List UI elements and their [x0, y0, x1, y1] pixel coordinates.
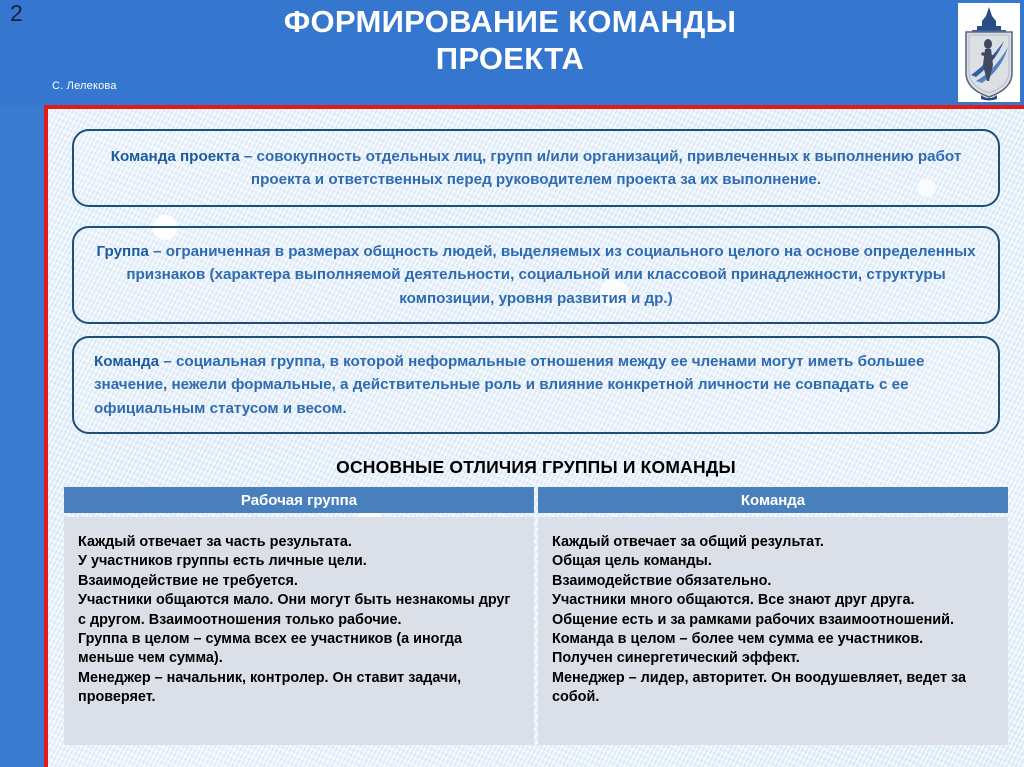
column-header-rabochaya-gruppa: Рабочая группа [64, 487, 534, 513]
presentation-slide: 2 С. Лелекова ФОРМИРОВАНИЕ КОМАНДЫ ПРОЕК… [0, 0, 1024, 767]
title-line-1: ФОРМИРОВАНИЕ КОМАНДЫ [284, 4, 737, 39]
content-frame: Команда проекта – совокупность отдельных… [44, 105, 1024, 767]
slide-number: 2 [10, 2, 23, 25]
title-line-2: ПРОЕКТА [436, 41, 585, 76]
content-area: Команда проекта – совокупность отдельных… [48, 109, 1024, 767]
comparison-table: Рабочая группа Команда Каждый отвечает з… [64, 487, 1008, 745]
definition-text: Команда проекта – совокупность отдельных… [94, 145, 978, 191]
definition-term: Группа [96, 243, 148, 260]
definition-term: Команда [94, 353, 159, 370]
cell-text: Каждый отвечает за часть результата.У уч… [78, 533, 520, 707]
definition-body: – социальная группа, в которой неформаль… [94, 353, 924, 416]
definition-body: – ограниченная в размерах общность людей… [126, 243, 975, 306]
definition-box-komanda: Команда – социальная группа, в которой н… [72, 336, 1000, 434]
author-name: С. Лелекова [52, 80, 117, 92]
definition-text: Команда – социальная группа, в которой н… [94, 350, 978, 419]
comparison-heading: ОСНОВНЫЕ ОТЛИЧИЯ ГРУППЫ И КОМАНДЫ [48, 457, 1024, 478]
definition-body: – совокупность отдельных лиц, групп и/ил… [240, 148, 962, 188]
page-title: ФОРМИРОВАНИЕ КОМАНДЫ ПРОЕКТА [190, 4, 830, 77]
definition-box-gruppa: Группа – ограниченная в размерах общност… [72, 226, 1000, 324]
table-cell-rabochaya-gruppa: Каждый отвечает за часть результата.У уч… [64, 517, 534, 745]
table-header-row: Рабочая группа Команда [64, 487, 1008, 513]
table-body-row: Каждый отвечает за часть результата.У уч… [64, 517, 1008, 745]
definition-text: Группа – ограниченная в размерах общност… [94, 240, 978, 309]
slide-header: 2 С. Лелекова ФОРМИРОВАНИЕ КОМАНДЫ ПРОЕК… [0, 0, 1024, 105]
column-header-komanda: Команда [538, 487, 1008, 513]
cell-text: Каждый отвечает за общий результат.Общая… [552, 533, 994, 707]
definition-term: Команда проекта [111, 148, 240, 165]
definition-box-komanda-proekta: Команда проекта – совокупность отдельных… [72, 129, 1000, 207]
table-cell-komanda: Каждый отвечает за общий результат.Общая… [538, 517, 1008, 745]
university-coat-of-arms-icon [958, 3, 1020, 102]
